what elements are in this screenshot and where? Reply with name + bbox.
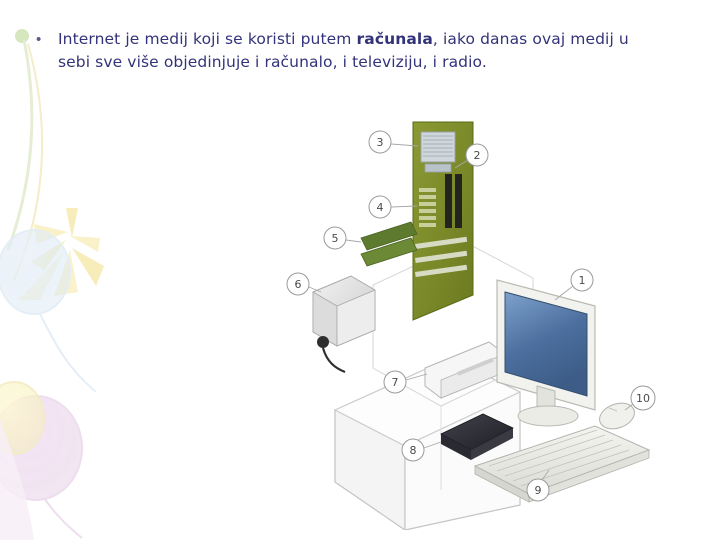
callout-10: 10 (625, 386, 655, 410)
callout-4: 4 (369, 196, 417, 218)
decorative-background-art (0, 0, 200, 540)
callout-3-label: 3 (377, 136, 384, 149)
cpu-heatsink (421, 132, 455, 172)
pink-balloon (0, 396, 82, 538)
callout-3: 3 (369, 131, 418, 153)
callout-5: 5 (324, 227, 361, 249)
callout-5-label: 5 (332, 232, 339, 245)
bullet-text: Internet je medij koji se koristi putem … (58, 28, 650, 74)
bullet-marker: • (30, 28, 58, 51)
motherboard (413, 122, 473, 320)
callout-10-label: 10 (636, 392, 650, 405)
callout-9-label: 9 (535, 484, 542, 497)
yellow-balloon (0, 382, 44, 454)
callout-8-label: 8 (410, 444, 417, 457)
green-dot-accent (15, 29, 29, 43)
slide-canvas: • Internet je medij koji se koristi pute… (0, 0, 720, 540)
callout-2-label: 2 (474, 149, 481, 162)
callout-7-label: 7 (392, 376, 399, 389)
bullet-text-bold: računala (357, 30, 433, 48)
power-supply (313, 276, 375, 372)
callout-1: 1 (555, 269, 593, 300)
mouse (596, 399, 638, 434)
bullet-paragraph: • Internet je medij koji se koristi pute… (30, 28, 650, 74)
callout-1-label: 1 (579, 274, 586, 287)
blue-balloon (0, 230, 96, 392)
callout-6-label: 6 (295, 278, 302, 291)
bullet-text-part1: Internet je medij koji se koristi putem (58, 30, 357, 48)
callout-4-label: 4 (377, 201, 384, 214)
computer-diagram: 1 2 3 4 5 (265, 110, 705, 530)
expansion-cards (361, 222, 417, 266)
yellow-starburst (18, 208, 104, 300)
